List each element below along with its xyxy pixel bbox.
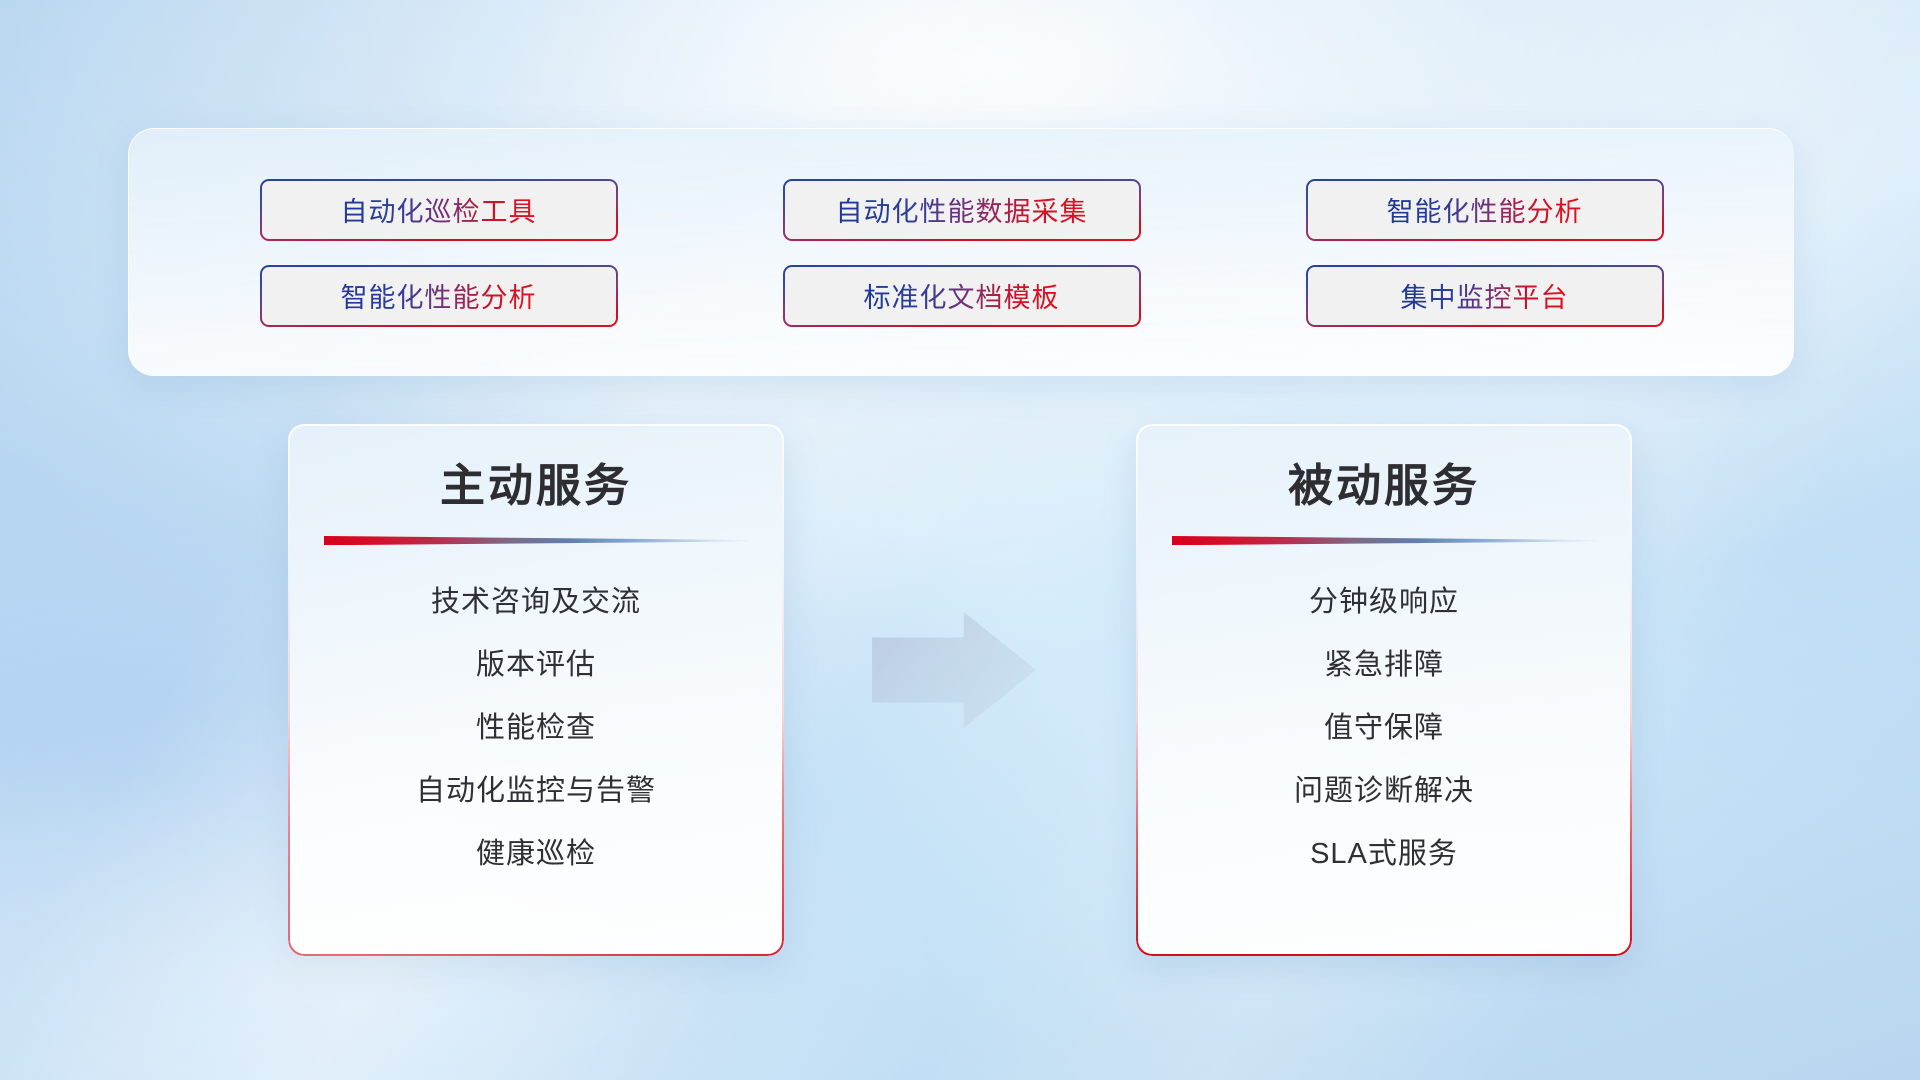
list-item[interactable]: 问题诊断解决 bbox=[1294, 760, 1474, 823]
capability-pill-automated-inspection-tool[interactable]: 自动化巡检工具 bbox=[260, 179, 618, 241]
capability-pill-intelligent-perf-analysis-2[interactable]: 智能化性能分析 bbox=[260, 265, 618, 327]
pill-surface: 集中监控平台 bbox=[1308, 267, 1662, 325]
capability-pill-label: 自动化性能数据采集 bbox=[836, 190, 1088, 229]
service-list-proactive: 技术咨询及交流 版本评估 性能检查 自动化监控与告警 健康巡检 bbox=[322, 571, 750, 926]
list-item[interactable]: 分钟级响应 bbox=[1309, 571, 1459, 634]
list-item[interactable]: 性能检查 bbox=[476, 697, 596, 760]
card-title-divider bbox=[324, 534, 748, 545]
pill-surface: 标准化文档模板 bbox=[785, 267, 1139, 325]
list-item[interactable]: 自动化监控与告警 bbox=[416, 760, 656, 823]
capability-pill-automated-perf-data-collection[interactable]: 自动化性能数据采集 bbox=[783, 179, 1141, 241]
pill-surface: 自动化性能数据采集 bbox=[785, 181, 1139, 239]
card-body: 主动服务 技术咨询及交流 版本评估 性能检查 自动化监控与告警 健康巡检 bbox=[288, 424, 784, 956]
capability-pill-standardized-doc-template[interactable]: 标准化文档模板 bbox=[783, 265, 1141, 327]
list-item[interactable]: 值守保障 bbox=[1324, 697, 1444, 760]
card-title-proactive: 主动服务 bbox=[440, 458, 632, 514]
pill-surface: 智能化性能分析 bbox=[1308, 181, 1662, 239]
capability-pill-label: 自动化巡检工具 bbox=[341, 190, 537, 229]
list-item[interactable]: 技术咨询及交流 bbox=[431, 571, 641, 634]
list-item[interactable]: 版本评估 bbox=[476, 634, 596, 697]
slide-canvas: 自动化巡检工具 自动化性能数据采集 智能化性能分析 智能化性能分析 bbox=[0, 0, 1920, 1080]
capability-pill-label: 智能化性能分析 bbox=[341, 276, 537, 315]
list-item[interactable]: 健康巡检 bbox=[476, 823, 596, 886]
service-card-reactive[interactable]: 被动服务 分钟级响应 紧急排障 值守保障 问题诊断解决 SLA式服务 bbox=[1136, 424, 1632, 956]
card-title-divider bbox=[1172, 534, 1596, 545]
list-item[interactable]: SLA式服务 bbox=[1310, 823, 1458, 886]
capability-pill-centralized-monitoring-platform[interactable]: 集中监控平台 bbox=[1306, 265, 1664, 327]
card-title-reactive: 被动服务 bbox=[1288, 458, 1480, 514]
capability-pill-grid: 自动化巡检工具 自动化性能数据采集 智能化性能分析 智能化性能分析 bbox=[129, 179, 1794, 327]
pill-surface: 智能化性能分析 bbox=[262, 267, 616, 325]
service-card-proactive[interactable]: 主动服务 技术咨询及交流 版本评估 性能检查 自动化监控与告警 健康巡检 bbox=[288, 424, 784, 956]
arrow-right-icon bbox=[872, 612, 1036, 728]
capability-pill-label: 集中监控平台 bbox=[1401, 276, 1569, 315]
capability-pill-label: 标准化文档模板 bbox=[864, 276, 1060, 315]
capability-pill-intelligent-perf-analysis-1[interactable]: 智能化性能分析 bbox=[1306, 179, 1664, 241]
pill-surface: 自动化巡检工具 bbox=[262, 181, 616, 239]
capability-pill-label: 智能化性能分析 bbox=[1387, 190, 1583, 229]
card-body: 被动服务 分钟级响应 紧急排障 值守保障 问题诊断解决 SLA式服务 bbox=[1136, 424, 1632, 956]
capabilities-panel: 自动化巡检工具 自动化性能数据采集 智能化性能分析 智能化性能分析 bbox=[128, 128, 1794, 376]
list-item[interactable]: 紧急排障 bbox=[1324, 634, 1444, 697]
service-list-reactive: 分钟级响应 紧急排障 值守保障 问题诊断解决 SLA式服务 bbox=[1170, 571, 1598, 926]
